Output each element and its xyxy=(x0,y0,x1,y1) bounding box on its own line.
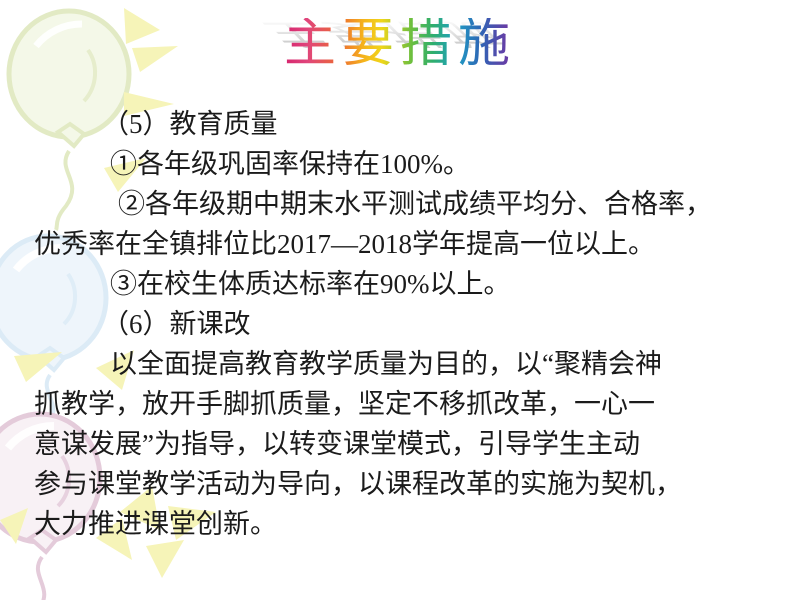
body-line-item-1: ①各年级巩固率保持在100%。 xyxy=(34,144,782,184)
body-line-heading-5: （5）教育质量 xyxy=(34,104,782,144)
body-line-para-1a: 以全面提高教育教学质量为目的，以“聚精会神 xyxy=(34,344,782,384)
body-line-para-1b: 抓教学，放开手脚抓质量，坚定不移抓改革，一心一 xyxy=(34,384,782,424)
title-stack: 主要措施 主要措施 xyxy=(284,18,516,73)
body-line-para-1c: 意谋发展”为指导，以转变课堂模式，引导学生主动 xyxy=(34,424,782,464)
body-line-heading-6: （6）新课改 xyxy=(34,304,782,344)
body-line-para-1d: 参与课堂教学活动为导向，以课程改革的实施为契机， xyxy=(34,464,782,504)
body-line-item-2a: ②各年级期中期末水平测试成绩平均分、合格率， xyxy=(34,184,782,224)
body-line-item-3: ③在校生体质达标率在90%以上。 xyxy=(34,264,782,304)
slide-title-block: 主要措施 主要措施 xyxy=(0,18,800,73)
page-title: 主要措施 xyxy=(284,18,516,73)
body-line-item-2b: 优秀率在全镇排位比2017—2018学年提高一位以上。 xyxy=(34,224,782,264)
body-line-para-1e: 大力推进课堂创新。 xyxy=(34,504,782,544)
slide-body: （5）教育质量 ①各年级巩固率保持在100%。 ②各年级期中期末水平测试成绩平均… xyxy=(34,104,782,544)
slide-canvas: 主要措施 主要措施 （5）教育质量 ①各年级巩固率保持在100%。 ②各年级期中… xyxy=(0,0,800,600)
